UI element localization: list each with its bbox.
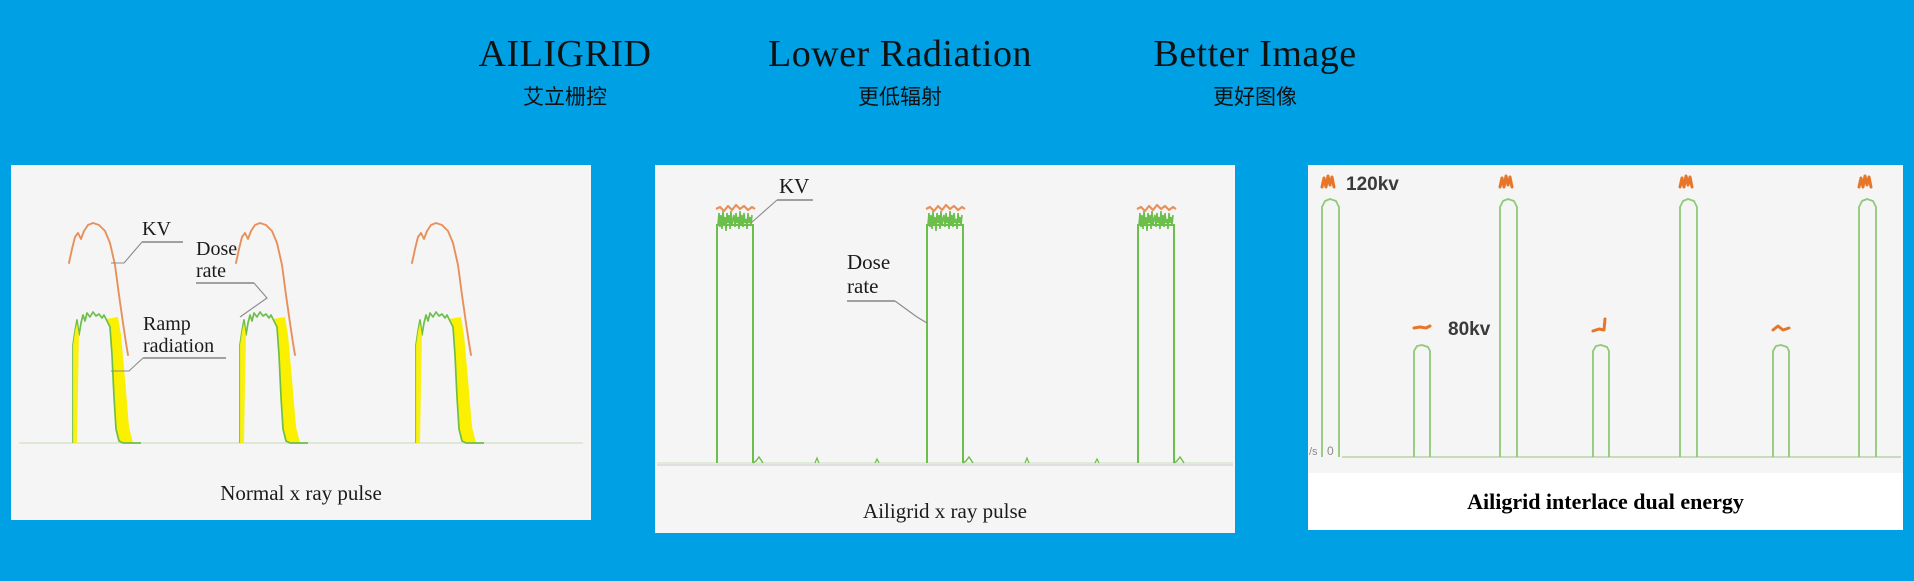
dose-rate-trace-2 xyxy=(240,312,308,443)
marker-120kv-4 xyxy=(1859,176,1871,187)
blip-2 xyxy=(875,459,879,463)
chart-ailigrid-x-ray-pulse: KV Dose rate xyxy=(655,165,1235,483)
ramp-radiation-fill-1b xyxy=(73,323,79,443)
header-group-better-image: Better Image 更好图像 xyxy=(1095,32,1415,112)
panel-ailigrid-interlace-dual-energy: 120kv 80kv /s 0 Ailigrid interlace dual … xyxy=(1308,165,1903,530)
annotation-dose-line2: rate xyxy=(847,274,878,298)
annotation-dose-line1: Dose xyxy=(196,238,237,260)
square-pulse-3 xyxy=(1137,205,1184,463)
annotation-ramp-line1: Ramp xyxy=(143,313,191,335)
annotation-dose-line2: rate xyxy=(196,260,226,282)
header-title-en-0: AILIGRID xyxy=(420,32,710,76)
annotation-kv-leader xyxy=(111,242,142,263)
panel-ailigrid-x-ray-pulse: KV Dose rate Ailigrid x ray pulse xyxy=(655,165,1235,533)
dose-rate-square-2 xyxy=(927,225,963,463)
kv-markers-high xyxy=(1322,176,1871,187)
marker-120kv-3 xyxy=(1680,176,1692,187)
tail-ripple-3 xyxy=(1174,457,1184,463)
axis-zero-label: 0 xyxy=(1327,444,1334,458)
blip-4 xyxy=(1095,459,1099,463)
panel-caption-dual-energy: Ailigrid interlace dual energy xyxy=(1308,473,1903,530)
pulse-120kv-1 xyxy=(1322,199,1339,457)
header-title-zh-2: 更好图像 xyxy=(1095,82,1415,112)
axis-unit-label: /s xyxy=(1309,446,1318,458)
header-title-en-2: Better Image xyxy=(1095,32,1415,76)
annotation-kv: KV xyxy=(751,174,813,223)
kv-overlay-1 xyxy=(716,205,755,211)
square-pulse-2 xyxy=(926,205,973,463)
annotation-dose-rate: Dose rate xyxy=(196,238,267,317)
dose-rate-noise-top-2 xyxy=(928,211,962,231)
header-group-lower-radiation: Lower Radiation 更低辐射 xyxy=(730,32,1070,112)
pulse-80kv-2 xyxy=(1593,345,1609,457)
annotation-dose-leader xyxy=(240,283,267,317)
annotation-kv-label: KV xyxy=(142,218,171,240)
kv-overlay-3 xyxy=(1137,205,1176,211)
annotation-dose-rate: Dose rate xyxy=(847,250,927,323)
marker-120kv-legend-icon xyxy=(1322,176,1334,187)
ramp-radiation-fill-2b xyxy=(240,323,246,443)
dose-rate-noise-top-3 xyxy=(1139,211,1173,231)
pulse-80kv-1 xyxy=(1414,345,1430,457)
marker-80kv-2 xyxy=(1593,319,1605,331)
annotation-ramp-radiation: Ramp radiation xyxy=(111,313,226,371)
pulse-80kv-3 xyxy=(1773,345,1789,457)
pulse-120kv-3 xyxy=(1680,199,1697,457)
annotation-ramp-line2: radiation xyxy=(143,335,214,357)
header-title-en-1: Lower Radiation xyxy=(730,32,1070,76)
pulse-120kv-4 xyxy=(1859,199,1876,457)
marker-120kv-2 xyxy=(1500,176,1512,187)
square-pulse-1 xyxy=(716,205,763,463)
blip-1 xyxy=(815,458,819,463)
kv-overlay-2 xyxy=(926,205,965,211)
tail-ripple-1 xyxy=(753,457,763,463)
header-group-ailigrid: AILIGRID 艾立栅控 xyxy=(420,32,710,112)
pulse-group-3 xyxy=(412,223,484,443)
annotation-dose-leader xyxy=(895,301,927,323)
header-title-zh-0: 艾立栅控 xyxy=(420,82,710,112)
chart-svg-normal: KV Dose rate Ramp radiation xyxy=(11,165,591,465)
dose-rate-trace-3 xyxy=(416,312,484,443)
dose-rate-square-3 xyxy=(1138,225,1174,463)
legend-label-120kv: 120kv xyxy=(1346,174,1399,195)
panel-normal-x-ray-pulse: KV Dose rate Ramp radiation Normal x ray… xyxy=(11,165,591,520)
chart-svg-dual-energy: 120kv 80kv /s 0 xyxy=(1308,165,1903,473)
annotation-kv: KV xyxy=(111,218,183,263)
marker-80kv-legend-icon xyxy=(1414,326,1430,328)
annotation-kv-label: KV xyxy=(779,174,809,198)
baseline-blips xyxy=(815,458,1099,463)
pulse-group-2 xyxy=(236,223,308,443)
chart-ailigrid-dual-energy: 120kv 80kv /s 0 xyxy=(1308,165,1903,473)
tail-ripple-2 xyxy=(963,457,973,463)
low-energy-pulses xyxy=(1414,345,1789,457)
annotation-kv-leader xyxy=(751,200,777,223)
dose-rate-square-1 xyxy=(717,225,753,463)
ramp-radiation-fill-3b xyxy=(416,323,422,443)
dose-rate-noise-top-1 xyxy=(718,211,752,231)
chart-normal-x-ray-pulse: KV Dose rate Ramp radiation xyxy=(11,165,591,465)
chart-svg-ailigrid: KV Dose rate xyxy=(655,165,1235,483)
panel-caption-normal: Normal x ray pulse xyxy=(11,481,591,506)
pulse-120kv-2 xyxy=(1500,199,1517,457)
blip-3 xyxy=(1025,458,1029,463)
header-banner: AILIGRID 艾立栅控 Lower Radiation 更低辐射 Bette… xyxy=(0,0,1914,160)
marker-80kv-3 xyxy=(1773,326,1789,330)
header-title-zh-1: 更低辐射 xyxy=(730,82,1070,112)
legend-label-80kv: 80kv xyxy=(1448,319,1491,340)
dose-rate-trace-1 xyxy=(73,312,141,443)
panel-caption-ailigrid: Ailigrid x ray pulse xyxy=(655,499,1235,524)
annotation-dose-line1: Dose xyxy=(847,250,890,274)
